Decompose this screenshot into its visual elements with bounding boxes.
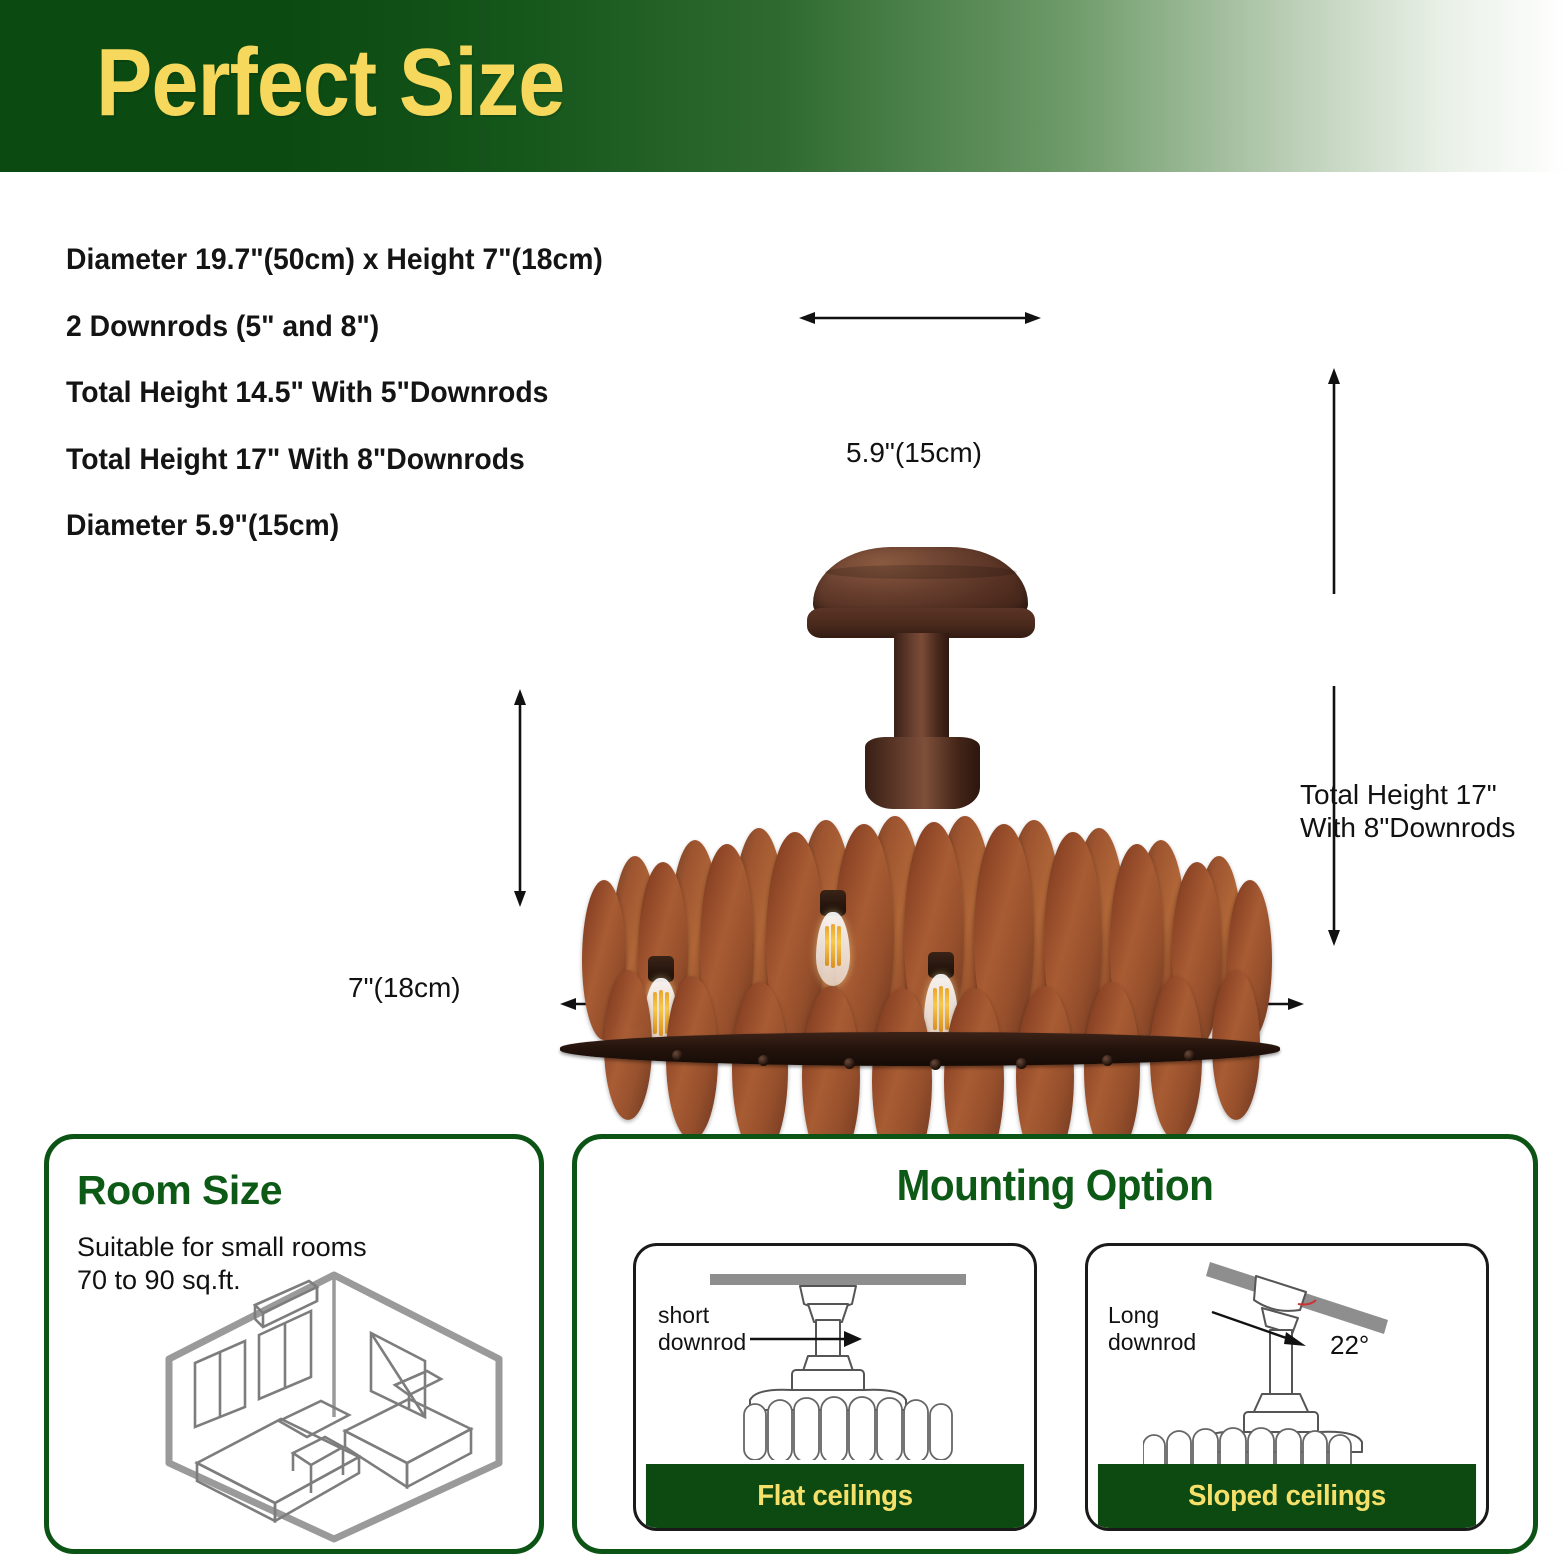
band-rivet bbox=[1016, 1058, 1027, 1069]
fan-canopy-ring bbox=[825, 565, 1017, 579]
wood-slat-cage bbox=[520, 770, 1320, 1150]
mounting-panel-sloped: Long downrod 22° Sloped ceilings bbox=[1085, 1243, 1489, 1531]
band-rivet bbox=[672, 1050, 683, 1061]
room-size-title: Room Size bbox=[77, 1167, 282, 1214]
edison-bulb bbox=[816, 912, 850, 986]
ceiling-fan-product-image bbox=[520, 365, 1320, 1155]
flat-mount-fan-icon bbox=[696, 1270, 986, 1460]
dimension-label-left: 7"(18cm) bbox=[348, 971, 461, 1004]
dimension-arrow-right-upper bbox=[1322, 366, 1346, 594]
sloped-pointer-arrow-icon bbox=[1210, 1308, 1320, 1354]
sloped-downrod-label: Long downrod bbox=[1108, 1302, 1196, 1355]
flat-downrod-label: short downrod bbox=[658, 1302, 746, 1355]
band-rivet bbox=[930, 1059, 941, 1070]
product-diagram: 5.9"(15cm) 7"(18cm) 19.7"(50cm) Total He… bbox=[0, 180, 1568, 1110]
slope-angle-label: 22° bbox=[1330, 1330, 1369, 1361]
mounting-panel-flat: short downrod Flat ceilings bbox=[633, 1243, 1037, 1531]
dimension-label-right-line1: Total Height 17" bbox=[1300, 778, 1515, 811]
sloped-ceiling-footer: Sloped ceilings bbox=[1098, 1464, 1476, 1528]
band-rivet bbox=[1184, 1050, 1195, 1061]
page-title: Perfect Size bbox=[96, 33, 564, 134]
fan-downrod bbox=[894, 633, 949, 743]
dimension-arrow-top bbox=[795, 306, 1045, 330]
header-banner: Perfect Size bbox=[0, 0, 1568, 172]
flat-pointer-arrow-icon bbox=[748, 1326, 868, 1352]
dimension-label-right: Total Height 17" With 8"Downrods bbox=[1300, 778, 1515, 844]
band-rivet bbox=[758, 1055, 769, 1066]
mounting-option-title: Mounting Option bbox=[615, 1161, 1495, 1211]
flat-ceiling-footer: Flat ceilings bbox=[646, 1464, 1024, 1528]
dimension-label-right-line2: With 8"Downrods bbox=[1300, 811, 1515, 844]
band-rivet bbox=[844, 1058, 855, 1069]
room-size-card: Room Size Suitable for small rooms 70 to… bbox=[44, 1134, 544, 1554]
mounting-option-card: Mounting Option sh bbox=[572, 1134, 1538, 1554]
metal-band bbox=[560, 1032, 1280, 1066]
band-rivet bbox=[1102, 1055, 1113, 1066]
room-illustration-icon bbox=[159, 1267, 509, 1547]
